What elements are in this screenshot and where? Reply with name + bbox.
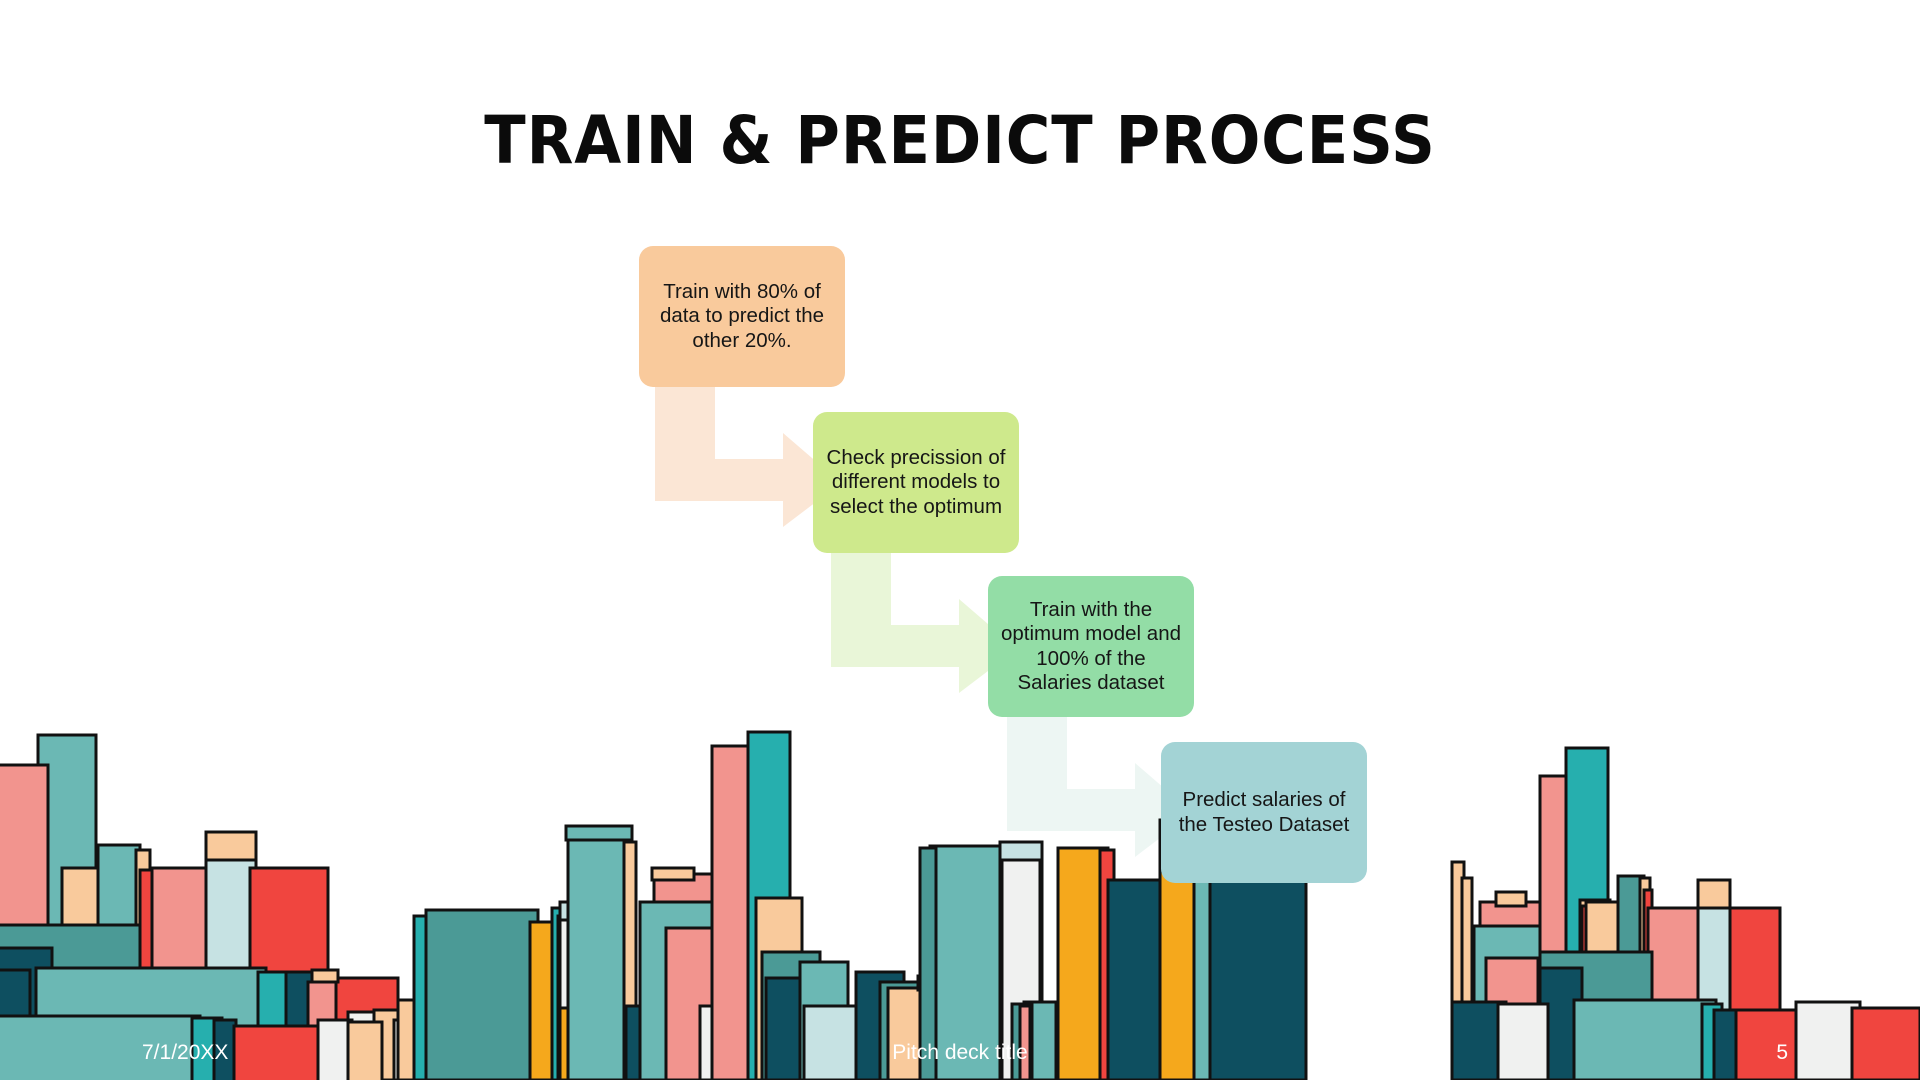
flow-step-label-3: Train with the optimum model and 100% of… (1000, 598, 1182, 696)
footer-deck-title: Pitch deck title (0, 1026, 1920, 1080)
flow-step-label-4: Predict salaries of the Testeo Dataset (1173, 788, 1355, 837)
flow-step-label-2: Check precission of different models to … (825, 446, 1007, 520)
slide-root: TRAIN & PREDICT PROCESS Train with 80% o… (0, 0, 1920, 1080)
flow-step-box-2[interactable]: Check precission of different models to … (813, 412, 1019, 553)
flow-step-box-4[interactable]: Predict salaries of the Testeo Dataset (1161, 742, 1367, 883)
flow-step-box-1[interactable]: Train with 80% of data to predict the ot… (639, 246, 845, 387)
flow-step-label-1: Train with 80% of data to predict the ot… (651, 280, 833, 354)
footer-page-number: 5 (1776, 1026, 1788, 1080)
page-title: TRAIN & PREDICT PROCESS (77, 106, 1843, 175)
flow-step-box-3[interactable]: Train with the optimum model and 100% of… (988, 576, 1194, 717)
